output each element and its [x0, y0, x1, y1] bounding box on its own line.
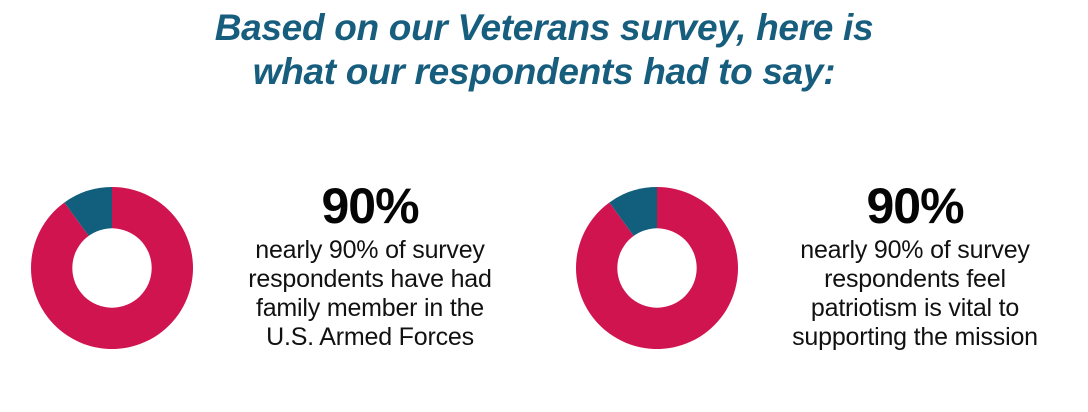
stat-description-2: nearly 90% of survey respondents feel pa…	[746, 236, 1084, 352]
donut-chart-patriotism	[574, 185, 740, 351]
stat-percent-2: 90%	[746, 178, 1084, 234]
page-title-line-1: Based on our Veterans survey, here is	[0, 6, 1088, 50]
stat-percent-1: 90%	[201, 178, 539, 234]
donut-chart-svg-1	[29, 185, 195, 351]
stat-description-2-line-2: respondents feel	[746, 265, 1084, 294]
stat-description-2-line-4: supporting the mission	[746, 323, 1084, 352]
stat-description-2-line-1: nearly 90% of survey	[746, 236, 1084, 265]
donut-hole-2	[617, 228, 696, 307]
page-title: Based on our Veterans survey, here is wh…	[0, 6, 1088, 94]
donut-chart-family-military	[29, 185, 195, 351]
donut-chart-svg-2	[574, 185, 740, 351]
stats-row: 90% nearly 90% of survey respondents hav…	[0, 178, 1088, 378]
stat-block-patriotism: 90% nearly 90% of survey respondents fee…	[543, 178, 1088, 352]
stat-text-patriotism: 90% nearly 90% of survey respondents fee…	[740, 178, 1088, 352]
stat-description-1-line-2: respondents have had	[201, 265, 539, 294]
page-title-line-2: what our respondents had to say:	[0, 50, 1088, 94]
donut-hole-1	[72, 228, 151, 307]
stat-description-1-line-3: family member in the	[201, 294, 539, 323]
infographic-root: Based on our Veterans survey, here is wh…	[0, 0, 1088, 412]
stat-description-1-line-4: U.S. Armed Forces	[201, 323, 539, 352]
stat-description-1-line-1: nearly 90% of survey	[201, 236, 539, 265]
stat-block-family-military: 90% nearly 90% of survey respondents hav…	[0, 178, 543, 352]
stat-description-2-line-3: patriotism is vital to	[746, 294, 1084, 323]
stat-description-1: nearly 90% of survey respondents have ha…	[201, 236, 539, 352]
stat-text-family-military: 90% nearly 90% of survey respondents hav…	[195, 178, 543, 352]
